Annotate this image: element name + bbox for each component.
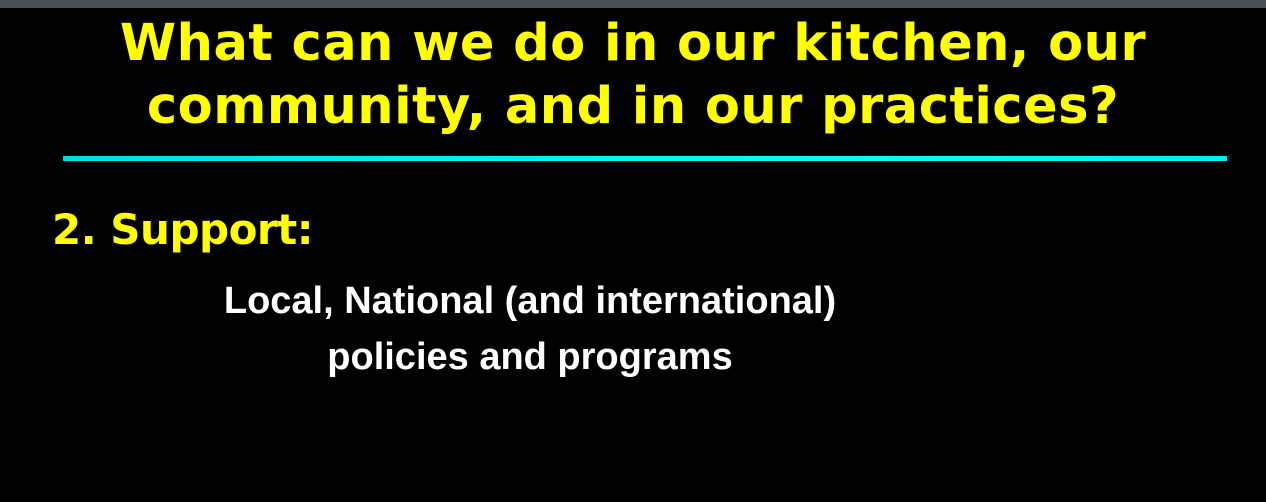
detail-line-1: Local, National (and international) <box>40 273 1020 329</box>
slide-body: 2. Support: Local, National (and interna… <box>0 205 1266 385</box>
section-detail: Local, National (and international) poli… <box>0 273 1020 385</box>
section-heading: 2. Support: <box>52 205 1266 255</box>
title-divider <box>0 156 1266 162</box>
slide-title: What can we do in our kitchen, our commu… <box>0 12 1266 138</box>
title-line-1: What can we do in our kitchen, our <box>0 12 1266 75</box>
detail-line-2: policies and programs <box>40 329 1020 385</box>
title-line-2: community, and in our practices? <box>0 75 1266 138</box>
divider-rule <box>63 156 1227 161</box>
top-bar <box>0 0 1266 8</box>
slide-canvas: What can we do in our kitchen, our commu… <box>0 0 1266 502</box>
